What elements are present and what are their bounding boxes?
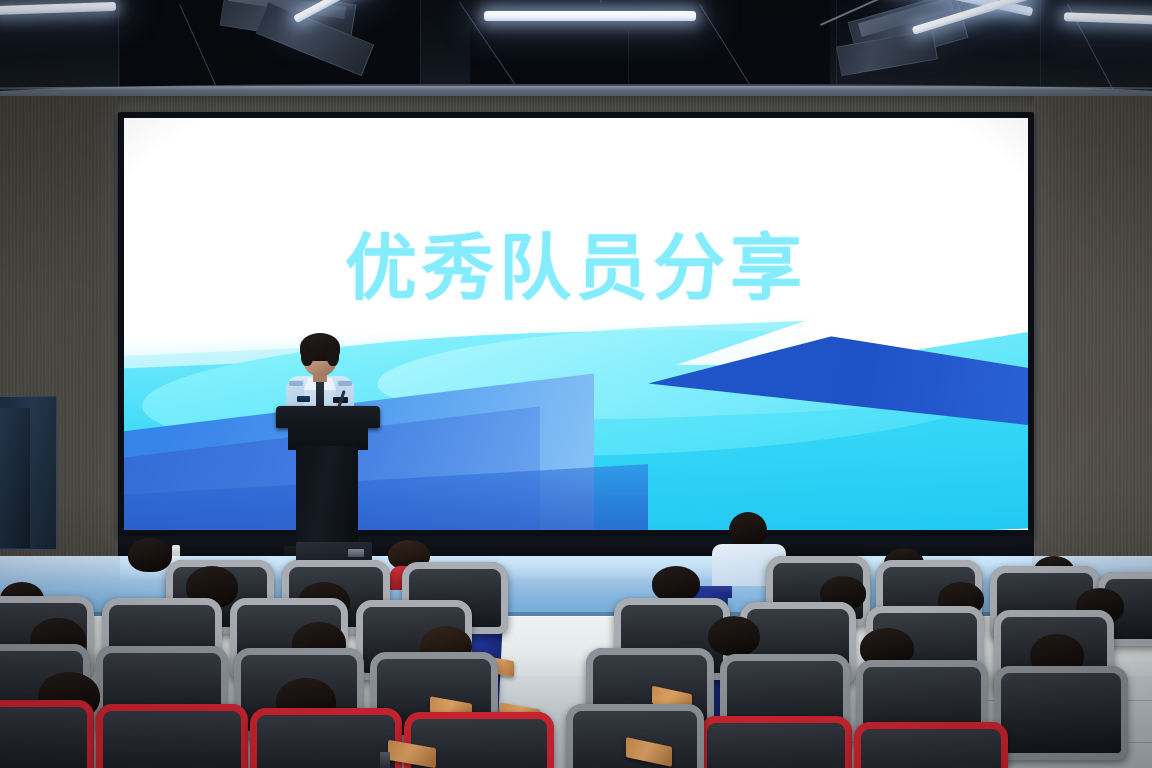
seat-front-row[interactable] <box>854 722 1008 768</box>
seat[interactable] <box>994 666 1128 760</box>
attendee-head <box>128 538 172 572</box>
podium-column <box>296 446 358 554</box>
ceiling-beam-highlight <box>0 86 1152 91</box>
presenter-hair-side-left <box>301 344 313 366</box>
attendee-head-officer <box>729 512 767 548</box>
seat-arm <box>380 752 390 768</box>
seat-front-row[interactable] <box>96 704 248 768</box>
presenter-badge-left <box>297 396 310 402</box>
presenter-epaulette-right <box>338 381 352 386</box>
ceiling <box>0 0 1152 96</box>
seat-front-row[interactable] <box>700 716 852 768</box>
stage-equipment-panel <box>348 549 364 557</box>
attendee-head <box>652 566 700 602</box>
ceiling-light-1 <box>0 2 116 15</box>
presenter-hair-side-right <box>327 344 339 366</box>
presenter-epaulette-left <box>289 381 303 386</box>
seat-front-row[interactable] <box>0 700 94 768</box>
ceiling-light-3 <box>484 11 696 21</box>
auditorium-scene: 优秀队员分享 <box>0 0 1152 768</box>
presentation-screen[interactable]: 优秀队员分享 <box>124 118 1028 530</box>
av-cabinet-side <box>0 408 30 548</box>
slide-title: 优秀队员分享 <box>124 209 1028 314</box>
attendee-head <box>708 616 760 656</box>
